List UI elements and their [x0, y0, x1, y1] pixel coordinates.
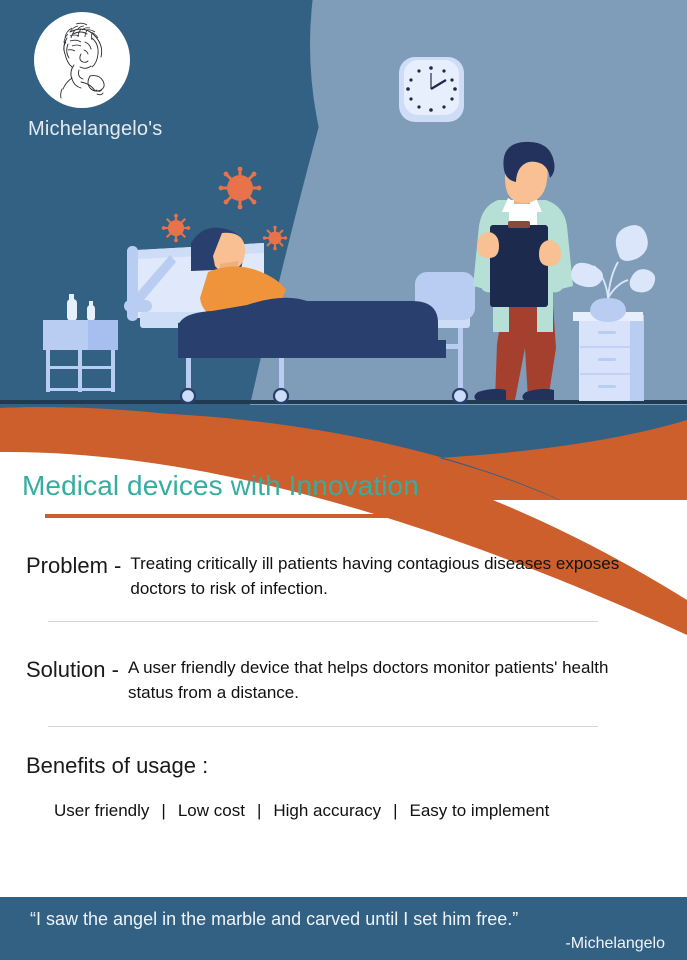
solution-label: Solution -	[26, 656, 119, 683]
benefit-item: High accuracy	[273, 801, 381, 821]
footer-band: “I saw the angel in the marble and carve…	[0, 897, 687, 960]
content-area: Medical devices with Innovation Problem …	[0, 470, 687, 821]
solution-row: Solution - A user friendly device that h…	[26, 656, 661, 705]
poster: Michelangelo's Medical devices with Inno…	[0, 0, 687, 960]
divider-2	[48, 726, 598, 727]
problem-text: Treating critically ill patients having …	[130, 552, 635, 601]
benefit-item: Easy to implement	[410, 801, 550, 821]
solution-text: A user friendly device that helps doctor…	[128, 656, 633, 705]
logo-badge	[34, 12, 130, 108]
benefit-item: User friendly	[54, 801, 149, 821]
brand-name: Michelangelo's	[28, 118, 208, 141]
title-underline	[45, 514, 427, 518]
page-title: Medical devices with Innovation	[22, 470, 687, 502]
footer-quote: “I saw the angel in the marble and carve…	[30, 909, 657, 930]
brand-logo: Michelangelo's	[28, 12, 208, 141]
benefits-list: User friendly | Low cost | High accuracy…	[54, 801, 661, 821]
benefits-section: Benefits of usage : User friendly | Low …	[26, 753, 661, 821]
benefit-separator: |	[161, 801, 165, 821]
divider-1	[48, 621, 598, 622]
footer-author: -Michelangelo	[565, 935, 665, 953]
benefit-separator: |	[257, 801, 261, 821]
problem-row: Problem - Treating critically ill patien…	[26, 552, 661, 601]
benefit-separator: |	[393, 801, 397, 821]
benefits-title: Benefits of usage :	[26, 753, 661, 779]
michelangelo-face-sketch-icon	[34, 12, 130, 108]
problem-label: Problem -	[26, 552, 121, 579]
benefit-item: Low cost	[178, 801, 245, 821]
